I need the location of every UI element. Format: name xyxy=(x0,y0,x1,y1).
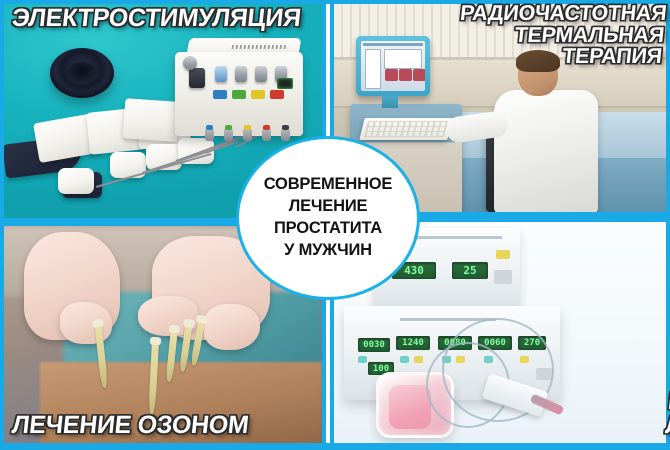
frame-border-left xyxy=(0,0,4,450)
electrode-small-1 xyxy=(58,168,94,194)
glove-right-thumb xyxy=(204,304,260,350)
power-switch[interactable] xyxy=(277,78,293,89)
indicator-yellow xyxy=(251,90,265,99)
indicator-green xyxy=(232,90,246,99)
button-top-yellow[interactable] xyxy=(496,250,510,259)
keyboard[interactable] xyxy=(359,118,452,140)
indicator-red xyxy=(270,90,284,99)
device-body xyxy=(175,52,303,136)
center-badge-line-2: ЛЕЧЕНИЕ xyxy=(289,196,368,218)
center-badge-line-1: СОВРЕМЕННОЕ xyxy=(264,174,393,196)
center-badge-line-3: ПРОСТАТИТА xyxy=(274,218,382,240)
lcd-top-2: 25 xyxy=(452,262,488,279)
caption-electrostimulation: ЭЛЕКТРОСТИМУЛЯЦИЯ xyxy=(11,6,302,31)
lcd-bottom-4: 0030 xyxy=(358,338,390,352)
keypad-button-c[interactable] xyxy=(414,356,423,363)
monitor-stand xyxy=(382,96,398,108)
electrode-pad-4 xyxy=(123,98,180,142)
screen-thumb-2 xyxy=(399,69,412,81)
keypad-button-b[interactable] xyxy=(400,356,409,363)
frame-border-bottom xyxy=(0,443,670,450)
knob-3[interactable] xyxy=(255,66,267,82)
indicator-blue xyxy=(213,90,227,99)
electrostimulator-unit xyxy=(175,38,303,136)
caption-line-2: ТЕРАПИЯ xyxy=(334,46,663,68)
screen-thumb-3 xyxy=(413,69,425,81)
caption-line-1: РАДИОЧАСТОТНАЯ ТЕРМАЛЬНАЯ xyxy=(459,1,668,47)
caption-rf-thermal-therapy: РАДИОЧАСТОТНАЯ ТЕРМАЛЬНАЯ ТЕРАПИЯ xyxy=(334,3,667,68)
center-badge-line-4: У МУЖЧИН xyxy=(284,240,372,262)
screen-thumb-1 xyxy=(385,69,398,81)
device-brand-plate xyxy=(232,45,289,49)
doctor-figure xyxy=(494,52,602,212)
knob-2[interactable] xyxy=(235,66,247,82)
button-top-grey[interactable] xyxy=(494,270,512,284)
keypad-button-a[interactable] xyxy=(358,356,367,363)
glove-left-thumb xyxy=(60,302,112,344)
doctor-coat xyxy=(494,90,598,212)
knob-top[interactable] xyxy=(183,56,197,70)
knob-1[interactable] xyxy=(215,66,227,82)
caption-ozone-therapy: ЛЕЧЕНИЕ ОЗОНОМ xyxy=(11,413,250,438)
collage-root: ЭЛЕКТРОСТИМУЛЯЦИЯ xyxy=(0,0,670,450)
knob-master[interactable] xyxy=(189,68,205,88)
center-badge: СОВРЕМЕННОЕ ЛЕЧЕНИЕ ПРОСТАТИТА У МУЖЧИН xyxy=(236,136,420,300)
lcd-bottom-1: 1240 xyxy=(396,336,430,350)
velcro-belt-roll xyxy=(50,48,114,98)
